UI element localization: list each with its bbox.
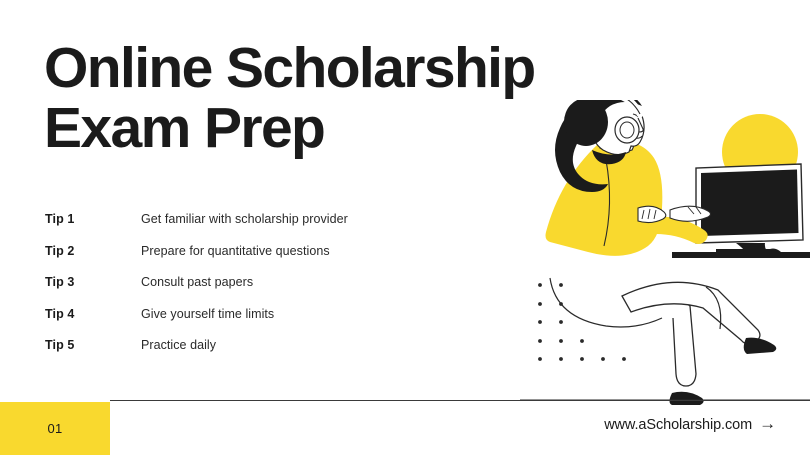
tip-text: Consult past papers: [141, 275, 253, 289]
list-item: Tip 4 Give yourself time limits: [45, 307, 485, 339]
list-item: Tip 1 Get familiar with scholarship prov…: [45, 212, 485, 244]
page-title-line-1: Online Scholarship: [44, 38, 604, 98]
desktop-monitor: [696, 164, 803, 255]
tip-label: Tip 4: [45, 307, 141, 321]
site-url-link[interactable]: www.aScholarship.com →: [604, 416, 776, 433]
tip-label: Tip 5: [45, 338, 141, 352]
hair-bun: [564, 100, 608, 146]
page-number-badge: 01: [0, 402, 110, 455]
tip-label: Tip 2: [45, 244, 141, 258]
page-number: 01: [0, 402, 110, 455]
hero-illustration: [520, 100, 810, 420]
tip-text: Get familiar with scholarship provider: [141, 212, 348, 226]
tip-label: Tip 1: [45, 212, 141, 226]
footer-divider: [110, 400, 810, 401]
tips-list: Tip 1 Get familiar with scholarship prov…: [45, 212, 485, 370]
dot-grid-decoration: [538, 283, 626, 361]
list-item: Tip 2 Prepare for quantitative questions: [45, 244, 485, 276]
list-item: Tip 3 Consult past papers: [45, 275, 485, 307]
list-item: Tip 5 Practice daily: [45, 338, 485, 370]
site-url-text: www.aScholarship.com: [604, 417, 752, 433]
slide-canvas: Online Scholarship Exam Prep Tip 1 Get f…: [0, 0, 810, 455]
arrow-right-icon: →: [759, 415, 776, 432]
tip-text: Practice daily: [141, 338, 216, 352]
tip-label: Tip 3: [45, 275, 141, 289]
tip-text: Prepare for quantitative questions: [141, 244, 330, 258]
tip-text: Give yourself time limits: [141, 307, 274, 321]
